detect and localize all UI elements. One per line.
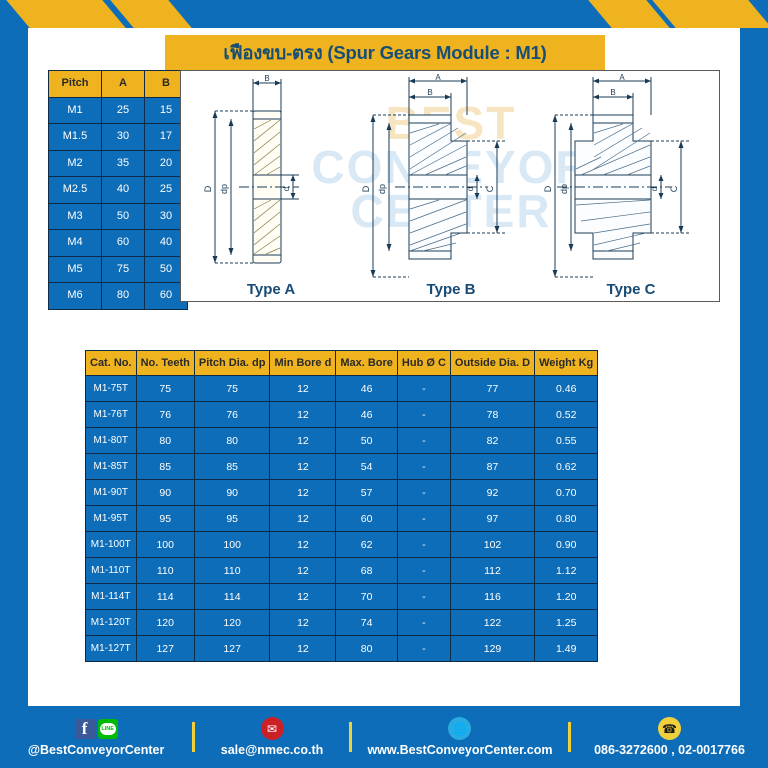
spec-cell: 0.62: [535, 454, 597, 479]
cat-no-cell: M1-76T: [86, 402, 136, 427]
chevron-stripe-1: [6, 0, 125, 28]
pitch-header-pitch: Pitch: [49, 71, 101, 97]
phone-icon: ☎: [658, 717, 681, 740]
svg-text:B: B: [264, 74, 269, 83]
svg-text:B: B: [427, 88, 432, 97]
spec-cell: -: [398, 376, 450, 401]
content-panel: เฟืองขบ-ตรง (Spur Gears Module : M1) Pit…: [28, 28, 740, 706]
email-address[interactable]: sale@nmec.co.th: [221, 743, 324, 757]
spec-cell: 1.12: [535, 558, 597, 583]
spec-cell: 92: [451, 480, 534, 505]
cat-no-cell: M1-100T: [86, 532, 136, 557]
spec-cell: 100: [137, 532, 194, 557]
pitch-table-row: M68060: [49, 283, 187, 309]
spec-cell: 50: [336, 428, 397, 453]
svg-text:A: A: [435, 73, 441, 82]
spec-cell: 12: [270, 558, 335, 583]
type-a-drawing: B D dp d: [181, 71, 361, 302]
spec-cell: 74: [336, 610, 397, 635]
table-row: M1-85T85851254-870.62: [86, 454, 597, 479]
spec-cell: -: [398, 428, 450, 453]
pitch-table-row: M23520: [49, 151, 187, 177]
cat-no-cell: M1-95T: [86, 506, 136, 531]
svg-text:dp: dp: [219, 184, 229, 194]
pitch-cell: M1: [49, 98, 101, 124]
table-row: M1-110T1101101268-1121.12: [86, 558, 597, 583]
spec-cell: 80: [336, 636, 397, 661]
phone-numbers[interactable]: 086-3272600 , 02-0017766: [594, 743, 745, 757]
pitch-cell: 40: [102, 177, 144, 203]
pitch-cell: 60: [102, 230, 144, 256]
svg-text:D: D: [361, 185, 371, 192]
svg-text:A: A: [619, 73, 625, 82]
cat-no-cell: M1-127T: [86, 636, 136, 661]
spec-cell: 85: [195, 454, 270, 479]
pitch-table-row: M12515: [49, 98, 187, 124]
spec-cell: 116: [451, 584, 534, 609]
table-row: M1-95T95951260-970.80: [86, 506, 597, 531]
spec-cell: -: [398, 558, 450, 583]
spec-cell: 120: [195, 610, 270, 635]
spec-header-0: Cat. No.: [86, 351, 136, 375]
spec-cell: -: [398, 506, 450, 531]
spec-cell: 78: [451, 402, 534, 427]
svg-text:D: D: [543, 185, 553, 192]
footer-website[interactable]: 🌐 www.BestConveyorCenter.com: [352, 718, 568, 757]
pitch-cell: M2: [49, 151, 101, 177]
spec-cell: 46: [336, 402, 397, 427]
svg-text:d: d: [282, 187, 291, 191]
spec-cell: 80: [137, 428, 194, 453]
gear-spec-table: Cat. No.No. TeethPitch Dia. dpMin Bore d…: [85, 350, 598, 662]
diagram-type-c: A B D dp d C Type C: [541, 71, 720, 302]
pitch-header-a: A: [102, 71, 144, 97]
line-icon[interactable]: LINE: [98, 719, 118, 739]
pitch-table-row: M57550: [49, 257, 187, 283]
facebook-icon[interactable]: f: [75, 719, 95, 739]
svg-text:D: D: [203, 185, 213, 192]
cat-no-cell: M1-85T: [86, 454, 136, 479]
svg-text:C: C: [485, 185, 495, 192]
spec-cell: 76: [137, 402, 194, 427]
spec-cell: 114: [195, 584, 270, 609]
table-row: M1-90T90901257-920.70: [86, 480, 597, 505]
svg-text:dp: dp: [377, 184, 387, 194]
pitch-cell: 25: [102, 98, 144, 124]
spec-cell: 0.55: [535, 428, 597, 453]
diagram-type-b: A B D dp d C Type B: [361, 71, 541, 302]
table-row: M1-75T75751246-770.46: [86, 376, 597, 401]
spec-cell: 1.25: [535, 610, 597, 635]
spec-cell: 129: [451, 636, 534, 661]
spec-cell: 80: [195, 428, 270, 453]
spec-cell: 0.52: [535, 402, 597, 427]
cat-no-cell: M1-80T: [86, 428, 136, 453]
spec-cell: 95: [195, 506, 270, 531]
spec-cell: 102: [451, 532, 534, 557]
type-c-label: Type C: [541, 281, 720, 298]
spec-cell: 95: [137, 506, 194, 531]
cat-no-cell: M1-75T: [86, 376, 136, 401]
pitch-cell: M1.5: [49, 124, 101, 150]
pitch-table-row: M35030: [49, 204, 187, 230]
envelope-icon: ✉: [261, 717, 284, 740]
spec-cell: 90: [195, 480, 270, 505]
spec-cell: 1.49: [535, 636, 597, 661]
pitch-cell: 75: [102, 257, 144, 283]
footer-contact-bar: f LINE @BestConveyorCenter ✉ sale@nmec.c…: [0, 706, 768, 768]
line-badge-label: LINE: [100, 723, 116, 735]
globe-icon: 🌐: [448, 717, 471, 740]
table-row: M1-100T1001001262-1020.90: [86, 532, 597, 557]
spec-cell: -: [398, 584, 450, 609]
svg-text:d: d: [650, 187, 659, 191]
spec-cell: 12: [270, 402, 335, 427]
table-row: M1-114T1141141270-1161.20: [86, 584, 597, 609]
spec-header-1: No. Teeth: [137, 351, 194, 375]
spec-cell: 75: [195, 376, 270, 401]
spec-cell: -: [398, 610, 450, 635]
website-url[interactable]: www.BestConveyorCenter.com: [367, 743, 552, 757]
spec-cell: 76: [195, 402, 270, 427]
spec-cell: 85: [137, 454, 194, 479]
spec-header-5: Hub Ø C: [398, 351, 450, 375]
spec-cell: 100: [195, 532, 270, 557]
spec-cell: -: [398, 636, 450, 661]
diagram-type-a: B D dp d Type A: [181, 71, 361, 302]
spec-header-6: Outside Dia. D: [451, 351, 534, 375]
spec-cell: 68: [336, 558, 397, 583]
spec-cell: 110: [137, 558, 194, 583]
svg-text:d: d: [466, 187, 475, 191]
spec-cell: 77: [451, 376, 534, 401]
pitch-cell: 30: [102, 124, 144, 150]
type-b-label: Type B: [361, 281, 541, 298]
pitch-cell: 80: [102, 283, 144, 309]
spec-cell: 90: [137, 480, 194, 505]
spec-cell: -: [398, 402, 450, 427]
spec-cell: 87: [451, 454, 534, 479]
spec-cell: 1.20: [535, 584, 597, 609]
svg-text:C: C: [669, 185, 679, 192]
spec-cell: 12: [270, 610, 335, 635]
spec-cell: 12: [270, 532, 335, 557]
cat-no-cell: M1-110T: [86, 558, 136, 583]
table-row: M1-120T1201201274-1221.25: [86, 610, 597, 635]
spec-cell: 0.90: [535, 532, 597, 557]
spec-cell: 54: [336, 454, 397, 479]
table-row: M1-76T76761246-780.52: [86, 402, 597, 427]
spec-cell: 127: [195, 636, 270, 661]
spec-cell: 46: [336, 376, 397, 401]
spec-cell: 127: [137, 636, 194, 661]
spec-cell: 114: [137, 584, 194, 609]
spec-cell: 120: [137, 610, 194, 635]
spec-cell: 0.46: [535, 376, 597, 401]
spec-header-2: Pitch Dia. dp: [195, 351, 270, 375]
spec-cell: -: [398, 532, 450, 557]
table-row: M1-127T1271271280-1291.49: [86, 636, 597, 661]
spec-cell: 82: [451, 428, 534, 453]
spec-cell: 75: [137, 376, 194, 401]
footer-email[interactable]: ✉ sale@nmec.co.th: [195, 718, 349, 757]
spec-cell: 60: [336, 506, 397, 531]
spec-header-3: Min Bore d: [270, 351, 335, 375]
cat-no-cell: M1-120T: [86, 610, 136, 635]
cat-no-cell: M1-90T: [86, 480, 136, 505]
table-row: M1-80T80801250-820.55: [86, 428, 597, 453]
pitch-cell: M3: [49, 204, 101, 230]
page-title: เฟืองขบ-ตรง (Spur Gears Module : M1): [223, 39, 546, 68]
spec-cell: 12: [270, 636, 335, 661]
spec-cell: 110: [195, 558, 270, 583]
pitch-table-row: M46040: [49, 230, 187, 256]
spec-header-4: Max. Bore: [336, 351, 397, 375]
footer-social[interactable]: f LINE @BestConveyorCenter: [0, 718, 192, 757]
spec-cell: 112: [451, 558, 534, 583]
type-c-drawing: A B D dp d C: [541, 71, 720, 302]
spec-cell: 12: [270, 428, 335, 453]
top-decoration-band: [0, 0, 768, 28]
chevron-stripe-4: [652, 0, 768, 28]
pitch-cell: M6: [49, 283, 101, 309]
footer-phone[interactable]: ☎ 086-3272600 , 02-0017766: [571, 718, 768, 757]
pitch-cell: 35: [102, 151, 144, 177]
spec-cell: 62: [336, 532, 397, 557]
spec-cell: -: [398, 480, 450, 505]
pitch-reference-table: Pitch A B M12515M1.53017M23520M2.54025M3…: [48, 70, 188, 310]
pitch-table-header-row: Pitch A B: [49, 71, 187, 97]
page-title-banner: เฟืองขบ-ตรง (Spur Gears Module : M1): [165, 35, 605, 72]
spec-cell: 12: [270, 480, 335, 505]
spec-cell: 12: [270, 584, 335, 609]
spec-cell: 0.70: [535, 480, 597, 505]
spec-cell: 122: [451, 610, 534, 635]
type-b-drawing: A B D dp d C: [361, 71, 541, 302]
pitch-cell: 50: [102, 204, 144, 230]
spec-header-7: Weight Kg: [535, 351, 597, 375]
type-a-label: Type A: [181, 281, 361, 298]
pitch-cell: M4: [49, 230, 101, 256]
pitch-cell: M5: [49, 257, 101, 283]
pitch-table-row: M2.54025: [49, 177, 187, 203]
spec-cell: 57: [336, 480, 397, 505]
spec-cell: 0.80: [535, 506, 597, 531]
pitch-table-row: M1.53017: [49, 124, 187, 150]
spec-cell: 70: [336, 584, 397, 609]
svg-text:dp: dp: [559, 184, 569, 194]
svg-text:B: B: [610, 88, 615, 97]
gear-type-diagrams: BEST CONVEYOR CENTER: [180, 70, 720, 302]
facebook-handle[interactable]: @BestConveyorCenter: [28, 743, 165, 757]
spec-cell: 97: [451, 506, 534, 531]
spec-cell: 12: [270, 376, 335, 401]
spec-cell: 12: [270, 454, 335, 479]
pitch-cell: M2.5: [49, 177, 101, 203]
spec-cell: -: [398, 454, 450, 479]
cat-no-cell: M1-114T: [86, 584, 136, 609]
spec-table-header-row: Cat. No.No. TeethPitch Dia. dpMin Bore d…: [86, 351, 597, 375]
spec-cell: 12: [270, 506, 335, 531]
